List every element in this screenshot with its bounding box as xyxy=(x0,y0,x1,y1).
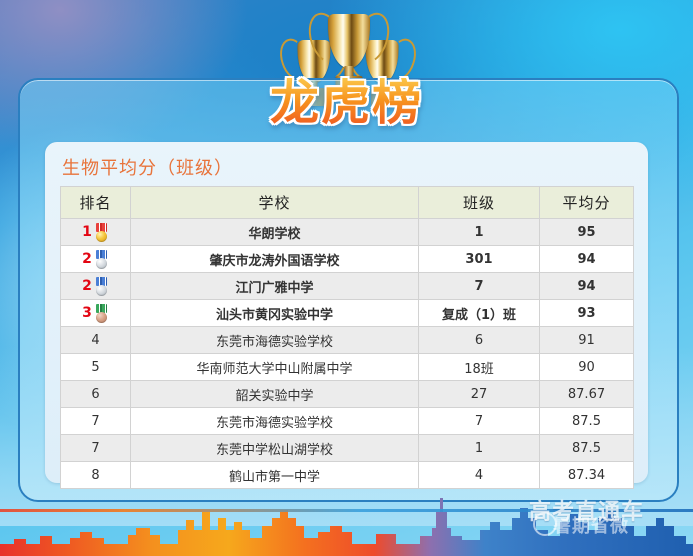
rank-number: 7 xyxy=(91,441,99,456)
table-row: 8鹤山市第一中学487.34 xyxy=(61,462,634,489)
medal-disc xyxy=(96,312,107,323)
rank-number: 2 xyxy=(82,278,92,294)
ranking-table: 排名 学校 班级 平均分 1华朗学校1952肇庆市龙涛外国语学校301942江门… xyxy=(60,186,634,489)
silver-medal-icon xyxy=(94,277,109,296)
column-header-class: 班级 xyxy=(419,187,540,219)
cell-class: 27 xyxy=(419,381,540,408)
bronze-medal-icon xyxy=(94,304,109,323)
cell-rank: 8 xyxy=(61,462,131,489)
table-row: 2江门广雅中学794 xyxy=(61,273,634,300)
cell-school: 鹤山市第一中学 xyxy=(131,462,419,489)
rank-number: 8 xyxy=(91,468,99,483)
cell-school: 东莞中学松山湖学校 xyxy=(131,435,419,462)
cell-class: 1 xyxy=(419,435,540,462)
column-header-score: 平均分 xyxy=(540,187,634,219)
cell-school: 华朗学校 xyxy=(131,219,419,246)
table-row: 1华朗学校195 xyxy=(61,219,634,246)
cell-rank: 1 xyxy=(61,219,131,246)
city-skyline-graphic xyxy=(0,492,693,556)
cell-school: 华南师范大学中山附属中学 xyxy=(131,354,419,381)
cell-rank: 2 xyxy=(61,246,131,273)
cell-score: 87.5 xyxy=(540,408,634,435)
cell-score: 87.67 xyxy=(540,381,634,408)
cell-class: 18班 xyxy=(419,354,540,381)
cell-score: 94 xyxy=(540,273,634,300)
cell-score: 91 xyxy=(540,327,634,354)
cell-class: 6 xyxy=(419,327,540,354)
cell-school: 江门广雅中学 xyxy=(131,273,419,300)
table-row: 5华南师范大学中山附属中学18班90 xyxy=(61,354,634,381)
table-row: 6韶关实验中学2787.67 xyxy=(61,381,634,408)
cell-score: 95 xyxy=(540,219,634,246)
cell-score: 90 xyxy=(540,354,634,381)
ranking-table-body: 1华朗学校1952肇庆市龙涛外国语学校301942江门广雅中学7943汕头市黄冈… xyxy=(61,219,634,489)
table-row: 7东莞市海德实验学校787.5 xyxy=(61,408,634,435)
skyline-horizon-line xyxy=(0,509,693,512)
cell-school: 东莞市海德实验学校 xyxy=(131,327,419,354)
cell-rank: 6 xyxy=(61,381,131,408)
cell-rank: 3 xyxy=(61,300,131,327)
cell-rank: 7 xyxy=(61,435,131,462)
rank-number: 7 xyxy=(91,414,99,429)
gold-medal-icon xyxy=(94,223,109,242)
cell-score: 87.5 xyxy=(540,435,634,462)
cell-class: 7 xyxy=(419,273,540,300)
cell-score: 93 xyxy=(540,300,634,327)
table-row: 2肇庆市龙涛外国语学校30194 xyxy=(61,246,634,273)
skyline-svg xyxy=(0,492,693,556)
table-header-row: 排名 学校 班级 平均分 xyxy=(61,187,634,219)
cell-school: 韶关实验中学 xyxy=(131,381,419,408)
rank-number: 5 xyxy=(91,360,99,375)
cell-school: 肇庆市龙涛外国语学校 xyxy=(131,246,419,273)
rank-number: 4 xyxy=(91,333,99,348)
medal-disc xyxy=(96,258,107,269)
banner-title: 龙虎榜 xyxy=(0,78,693,127)
cell-school: 东莞市海德实验学校 xyxy=(131,408,419,435)
ranking-table-wrapper: 排名 学校 班级 平均分 1华朗学校1952肇庆市龙涛外国语学校301942江门… xyxy=(60,186,633,489)
cell-rank: 7 xyxy=(61,408,131,435)
cell-class: 1 xyxy=(419,219,540,246)
cell-rank: 5 xyxy=(61,354,131,381)
table-row: 4东莞市海德实验学校691 xyxy=(61,327,634,354)
column-header-school: 学校 xyxy=(131,187,419,219)
cell-class: 301 xyxy=(419,246,540,273)
cell-rank: 4 xyxy=(61,327,131,354)
silver-medal-icon xyxy=(94,250,109,269)
table-row: 7东莞中学松山湖学校187.5 xyxy=(61,435,634,462)
cell-school: 汕头市黄冈实验中学 xyxy=(131,300,419,327)
column-header-rank: 排名 xyxy=(61,187,131,219)
cell-score: 87.34 xyxy=(540,462,634,489)
rank-number: 1 xyxy=(82,224,92,240)
rank-number: 2 xyxy=(82,251,92,267)
medal-disc xyxy=(96,285,107,296)
cell-class: 7 xyxy=(419,408,540,435)
cell-class: 4 xyxy=(419,462,540,489)
rank-number: 3 xyxy=(82,305,92,321)
cell-class: 复成（1）班 xyxy=(419,300,540,327)
leaderboard-panel: 生物平均分（班级） 排名 学校 班级 平均分 1华朗学校1952肇庆市龙涛外国语… xyxy=(45,142,648,483)
medal-disc xyxy=(96,231,107,242)
cell-score: 94 xyxy=(540,246,634,273)
cell-rank: 2 xyxy=(61,273,131,300)
rank-number: 6 xyxy=(91,387,99,402)
leaderboard-screen: 龙虎榜 生物平均分（班级） 排名 学校 班级 平均分 1华朗学校1952肇庆市龙… xyxy=(0,0,693,556)
panel-title: 生物平均分（班级） xyxy=(62,154,233,180)
table-row: 3汕头市黄冈实验中学复成（1）班93 xyxy=(61,300,634,327)
